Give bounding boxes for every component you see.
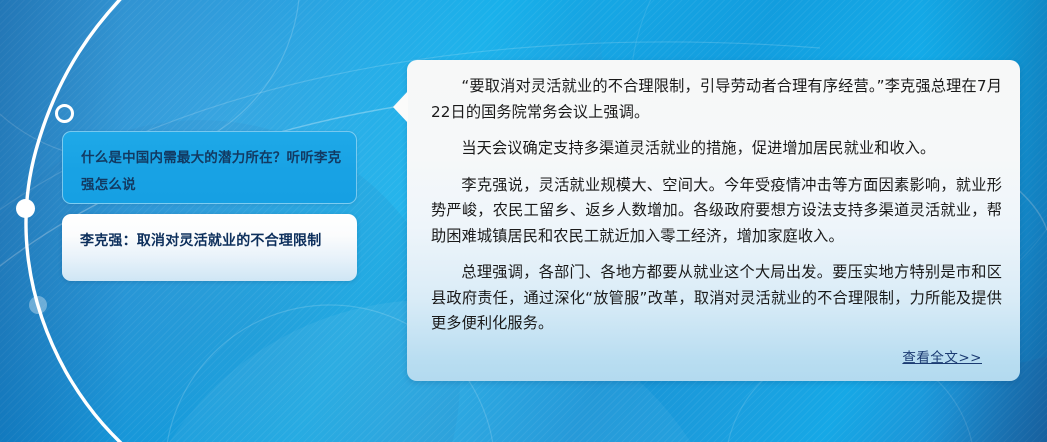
article-paragraph: 当天会议确定支持多渠道灵活就业的措施，促进增加居民就业和收入。 (431, 136, 1002, 162)
read-full-article-link[interactable]: 查看全文>> (902, 350, 982, 366)
article-paragraph: “要取消对灵活就业的不合理限制，引导劳动者合理有序经营。”李克强总理在7月22日… (431, 74, 1002, 125)
headline-card-inactive[interactable]: 什么是中国内需最大的潜力所在？听听李克强怎么说 (62, 131, 357, 204)
headline-card-inactive-label: 什么是中国内需最大的潜力所在？听听李克强怎么说 (81, 144, 343, 198)
timeline-node-dimmed-icon[interactable] (29, 296, 47, 314)
timeline-node-hollow-icon[interactable] (55, 104, 74, 123)
article-panel: “要取消对灵活就业的不合理限制，引导劳动者合理有序经营。”李克强总理在7月22日… (407, 60, 1020, 381)
timeline-node-active-icon[interactable] (16, 199, 35, 218)
panel-pointer-icon (393, 91, 408, 123)
article-body: “要取消对灵活就业的不合理限制，引导劳动者合理有序经营。”李克强总理在7月22日… (431, 74, 1002, 348)
article-footer: 查看全文>> (902, 346, 982, 367)
headline-card-active-label: 李克强：取消对灵活就业的不合理限制 (80, 227, 342, 254)
article-paragraph: 总理强调，各部门、各地方都要从就业这个大局出发。要压实地方特别是市和区县政府责任… (431, 260, 1002, 337)
article-paragraph: 李克强说，灵活就业规模大、空间大。今年受疫情冲击等方面因素影响，就业形势严峻，农… (431, 173, 1002, 250)
headline-card-active[interactable]: 李克强：取消对灵活就业的不合理限制 (62, 214, 357, 281)
infographic-slide: 什么是中国内需最大的潜力所在？听听李克强怎么说 李克强：取消对灵活就业的不合理限… (0, 0, 1047, 442)
